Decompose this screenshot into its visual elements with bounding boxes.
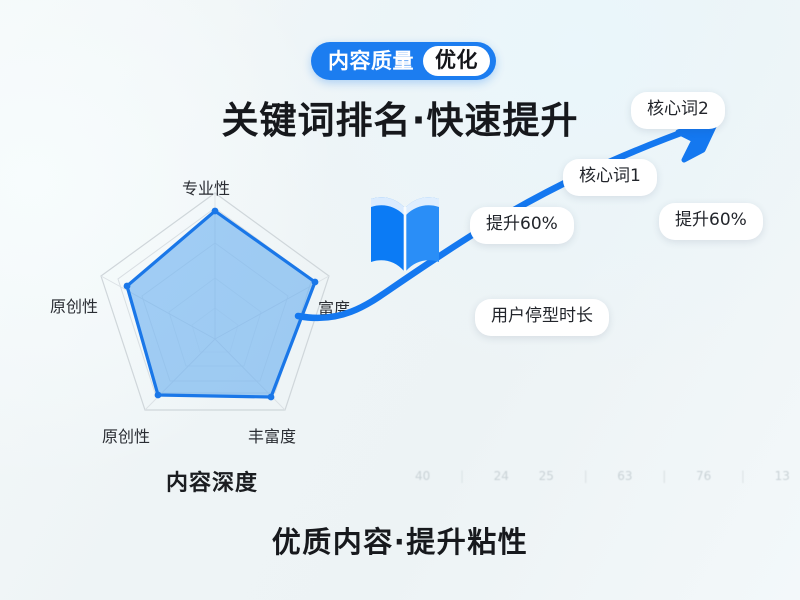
badge-label: 内容质量 [328,51,423,72]
radar-label-2: 丰富度 [248,423,296,447]
badge-pill-label: 优化 [423,46,490,76]
footer-title: 优质内容·提升粘性 [0,519,800,561]
poster-canvas: 内容质量 优化 关键词排名·快速提升 [0,0,800,600]
tick-9: 13 [775,469,790,483]
pill-dwell-time[interactable]: 用户停型时长 [475,299,609,336]
radar-label-4: 原创性 [50,293,98,317]
tick-4: | [584,469,588,483]
tick-7: 76 [696,469,711,483]
content-quality-badge[interactable]: 内容质量 优化 [311,42,496,80]
radar-label-0: 专业性 [182,175,230,199]
pill-uplift-right[interactable]: 提升60% [659,203,763,240]
tick-1: | [460,469,464,483]
pill-core-keyword-2[interactable]: 核心词2 [631,92,725,129]
pill-uplift-left[interactable]: 提升60% [470,207,574,244]
tick-8: | [741,469,745,483]
tick-2: 24 [494,469,509,483]
tick-3: 25 [539,469,554,483]
tick-5: 63 [617,469,632,483]
faint-tick-row: 40 | 24 25 | 63 | 76 | 13 [415,466,790,486]
radar-label-3: 原创性 [102,423,150,447]
tick-6: | [662,469,666,483]
pill-core-keyword-1[interactable]: 核心词1 [563,159,657,196]
tick-0: 40 [415,469,430,483]
open-book-icon [363,185,447,277]
content-depth-label: 内容深度 [166,465,258,497]
